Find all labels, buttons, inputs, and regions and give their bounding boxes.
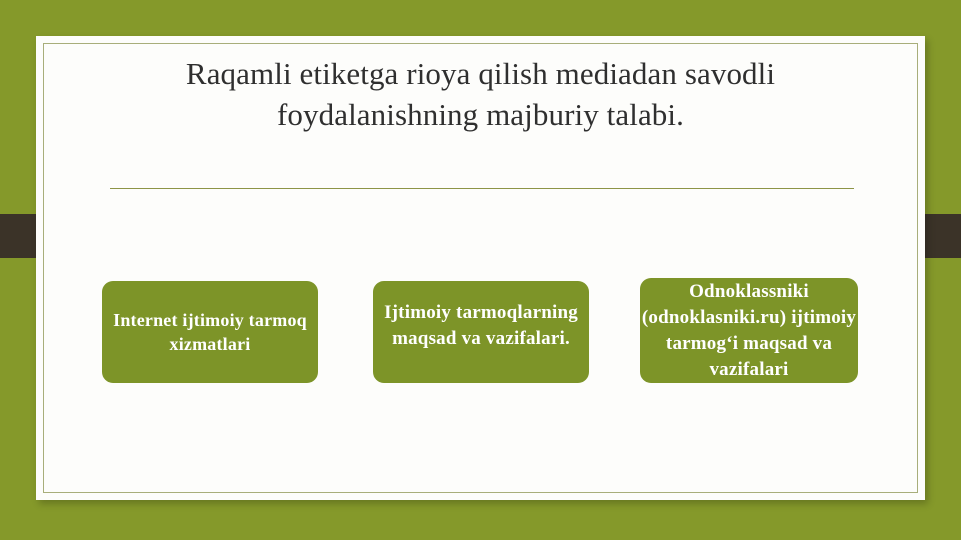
title-divider <box>110 188 854 189</box>
content-panel: Raqamli etiketga rioya qilish mediadan s… <box>36 36 925 500</box>
slide-title: Raqamli etiketga rioya qilish mediadan s… <box>106 53 855 135</box>
slide-canvas: Raqamli etiketga rioya qilish mediadan s… <box>0 0 961 540</box>
topic-box-social-network-goals[interactable]: Ijtimoiy tarmoqlarning maqsad va vazifal… <box>373 281 589 383</box>
topic-box-odnoklassniki[interactable]: Odnoklassniki (odnoklasniki.ru) ijtimoiy… <box>640 278 858 383</box>
topic-box-label: Internet ijtimoiy tarmoq xizmatlari <box>102 308 318 356</box>
topic-box-internet-services[interactable]: Internet ijtimoiy tarmoq xizmatlari <box>102 281 318 383</box>
topic-box-label: Odnoklassniki (odnoklasniki.ru) ijtimoiy… <box>640 279 858 383</box>
topic-box-label: Ijtimoiy tarmoqlarning maqsad va vazifal… <box>373 300 589 352</box>
slide-title-line-1: Raqamli etiketga rioya qilish mediadan s… <box>106 53 855 94</box>
slide-title-line-2: foydalanishning majburiy talabi. <box>106 94 855 135</box>
